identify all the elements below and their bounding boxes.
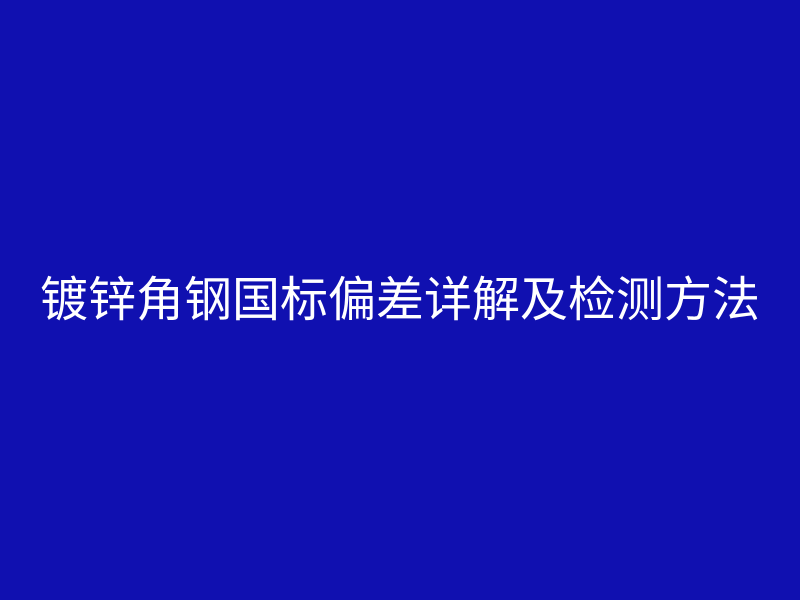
- slide-content-area: 镀锌角钢国标偏差详解及检测方法: [0, 276, 800, 324]
- title-slide: 镀锌角钢国标偏差详解及检测方法: [0, 0, 800, 600]
- page-title: 镀锌角钢国标偏差详解及检测方法: [40, 276, 760, 324]
